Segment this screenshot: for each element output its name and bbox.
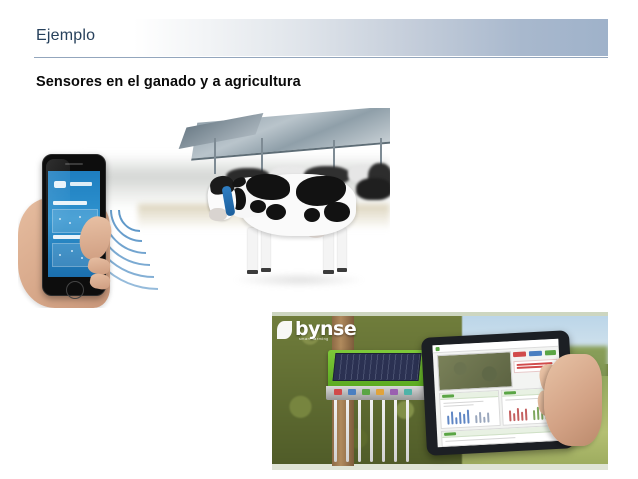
sensor-port (362, 389, 370, 395)
slide-subtitle: Sensores en el ganado y a agricultura (36, 74, 301, 90)
satellite-map-panel (437, 351, 513, 391)
solar-panel (333, 353, 422, 381)
panel-header (440, 391, 498, 400)
dashboard-button[interactable] (529, 351, 542, 357)
sensor-port (348, 389, 356, 395)
phone-glass-reflection (46, 159, 70, 289)
sensor-cable (394, 398, 397, 462)
cow-spot (324, 202, 350, 222)
sensor-port (376, 389, 384, 395)
cow-leg (324, 228, 333, 272)
dashboard-button[interactable] (545, 350, 556, 356)
sensor-cable (358, 398, 361, 462)
sensor-cable (346, 398, 349, 462)
cow-spot (304, 208, 320, 222)
cow-hoof (323, 270, 334, 274)
page-title: Ejemplo (36, 27, 95, 45)
bynse-logo-tagline: smart farming (299, 337, 329, 341)
sensor-cable (406, 398, 409, 462)
floor-reflection (234, 272, 364, 288)
slide-canvas: Ejemplo Sensores en el ganado y a agricu… (0, 0, 638, 479)
cow-leg (262, 228, 270, 270)
cow-leg (338, 228, 346, 270)
hand-holding-tablet (544, 354, 602, 446)
bottom-panel (441, 425, 562, 447)
cow-hoof (247, 270, 258, 274)
app-logo-text (70, 182, 92, 186)
cow-hoof (337, 268, 347, 272)
livestock-sensor-image (18, 108, 390, 308)
background-cow (356, 178, 390, 200)
barn-post (261, 138, 263, 172)
cow-spot (250, 200, 266, 213)
cow-spot (266, 204, 286, 220)
chart-panel-left (439, 390, 501, 429)
cow-hoof (261, 268, 271, 272)
sensor-cable (370, 398, 373, 462)
sensor-cable (334, 398, 337, 462)
cow-leg (248, 228, 257, 272)
agriculture-sensor-image: bynse smart farming (272, 312, 608, 470)
leaf-icon (277, 321, 292, 339)
image-border-bottom (272, 464, 608, 470)
sensor-port (404, 389, 412, 395)
dashboard-button[interactable] (513, 351, 526, 357)
sensor-cable (382, 398, 385, 462)
sensor-port (390, 389, 398, 395)
header-divider (34, 57, 608, 58)
bynse-logo: bynse smart farming (275, 316, 361, 344)
sensor-port (334, 389, 342, 395)
